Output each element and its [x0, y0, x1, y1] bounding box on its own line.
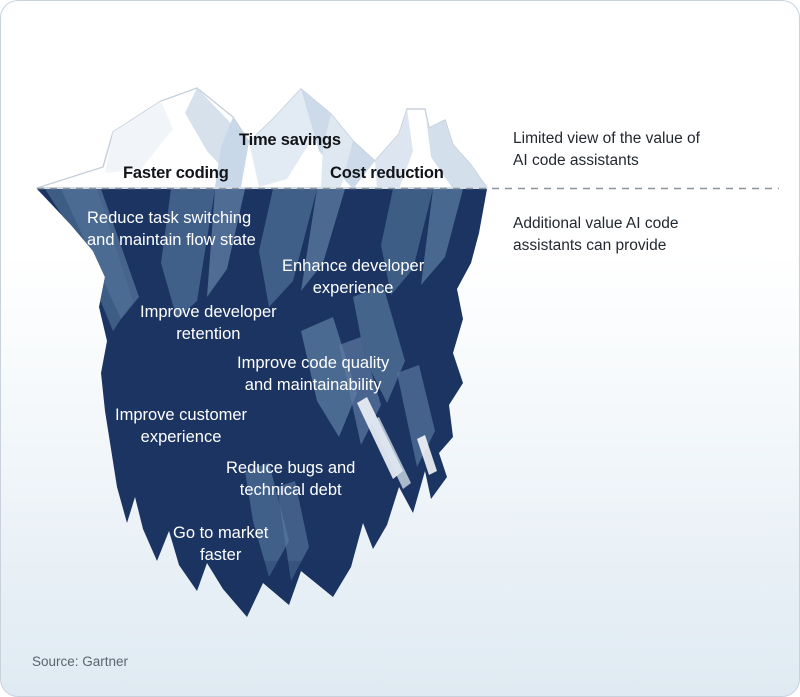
label-improve-developer-retention: Improve developer retention: [140, 301, 277, 345]
label-cost-reduction: Cost reduction: [330, 164, 444, 183]
annotation-limited-view: Limited view of the value of AI code ass…: [513, 128, 700, 172]
label-improve-code-quality: Improve code quality and maintainability: [237, 352, 389, 396]
label-improve-customer-experience: Improve customer experience: [115, 404, 247, 448]
iceberg-figure: [1, 1, 799, 696]
infographic-card: Faster coding Time savings Cost reductio…: [0, 0, 800, 697]
label-reduce-task-switching: Reduce task switching and maintain flow …: [87, 207, 256, 251]
source-note: Source: Gartner: [32, 654, 128, 669]
label-go-to-market-faster: Go to market faster: [173, 522, 268, 566]
annotation-additional-value: Additional value AI code assistants can …: [513, 213, 678, 257]
label-enhance-developer-experience: Enhance developer experience: [282, 255, 424, 299]
label-time-savings: Time savings: [239, 131, 341, 150]
label-faster-coding: Faster coding: [123, 164, 229, 183]
label-reduce-bugs: Reduce bugs and technical debt: [226, 457, 355, 501]
